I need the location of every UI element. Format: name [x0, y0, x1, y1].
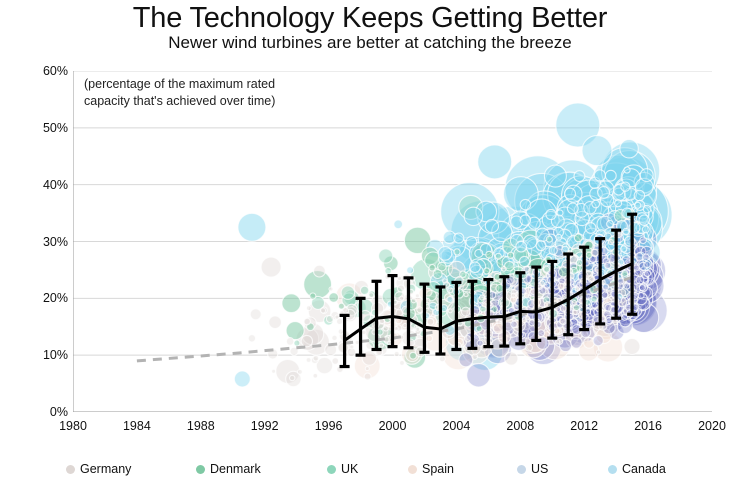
- legend-item-denmark[interactable]: Denmark: [196, 462, 261, 476]
- y-axis-tick-label: 0%: [6, 405, 68, 419]
- legend-item-spain[interactable]: Spain: [408, 462, 454, 476]
- legend-swatch-icon: [327, 465, 336, 474]
- legend-item-uk[interactable]: UK: [327, 462, 358, 476]
- page-title: The Technology Keeps Getting Better: [0, 2, 740, 35]
- chart-page: The Technology Keeps Getting Better Newe…: [0, 0, 740, 484]
- x-axis-tick-label: 1984: [123, 419, 151, 433]
- x-axis-tick-label: 2012: [570, 419, 598, 433]
- x-axis-tick-label: 1988: [187, 419, 215, 433]
- chart-canvas: [73, 71, 712, 412]
- legend-swatch-icon: [196, 465, 205, 474]
- y-axis-tick-label: 30%: [6, 235, 68, 249]
- legend-label: Canada: [622, 462, 666, 476]
- legend-item-us[interactable]: US: [517, 462, 548, 476]
- y-axis-tick-label: 60%: [6, 64, 68, 78]
- x-axis-tick-label: 2008: [506, 419, 534, 433]
- y-axis-tick-label: 40%: [6, 178, 68, 192]
- x-axis-tick-label: 1992: [251, 419, 279, 433]
- legend-item-canada[interactable]: Canada: [608, 462, 666, 476]
- chart-legend: GermanyDenmarkUKSpainUSCanada: [0, 462, 740, 484]
- scatter-plot-area: [73, 71, 712, 412]
- legend-swatch-icon: [517, 465, 526, 474]
- y-axis-tick-label: 10%: [6, 348, 68, 362]
- x-axis-tick-label: 2004: [442, 419, 470, 433]
- y-axis-tick-label: 50%: [6, 121, 68, 135]
- legend-label: US: [531, 462, 548, 476]
- legend-swatch-icon: [408, 465, 417, 474]
- x-axis-tick-label: 1980: [59, 419, 87, 433]
- x-axis-labels: 1980198419881992199620002004200820122016…: [0, 419, 740, 439]
- x-axis-tick-label: 2016: [634, 419, 662, 433]
- legend-label: Denmark: [210, 462, 261, 476]
- y-axis-tick-label: 20%: [6, 291, 68, 305]
- legend-item-germany[interactable]: Germany: [66, 462, 131, 476]
- chart-annotation: (percentage of the maximum rated capacit…: [84, 76, 275, 110]
- y-axis-labels: 0%10%20%30%40%50%60%: [0, 0, 68, 484]
- legend-label: Germany: [80, 462, 131, 476]
- legend-label: UK: [341, 462, 358, 476]
- legend-label: Spain: [422, 462, 454, 476]
- page-subtitle: Newer wind turbines are better at catchi…: [0, 33, 740, 53]
- bubble-layer: [234, 103, 672, 387]
- legend-swatch-icon: [608, 465, 617, 474]
- x-axis-tick-label: 2000: [379, 419, 407, 433]
- legend-swatch-icon: [66, 465, 75, 474]
- x-axis-tick-label: 1996: [315, 419, 343, 433]
- x-axis-tick-label: 2020: [698, 419, 726, 433]
